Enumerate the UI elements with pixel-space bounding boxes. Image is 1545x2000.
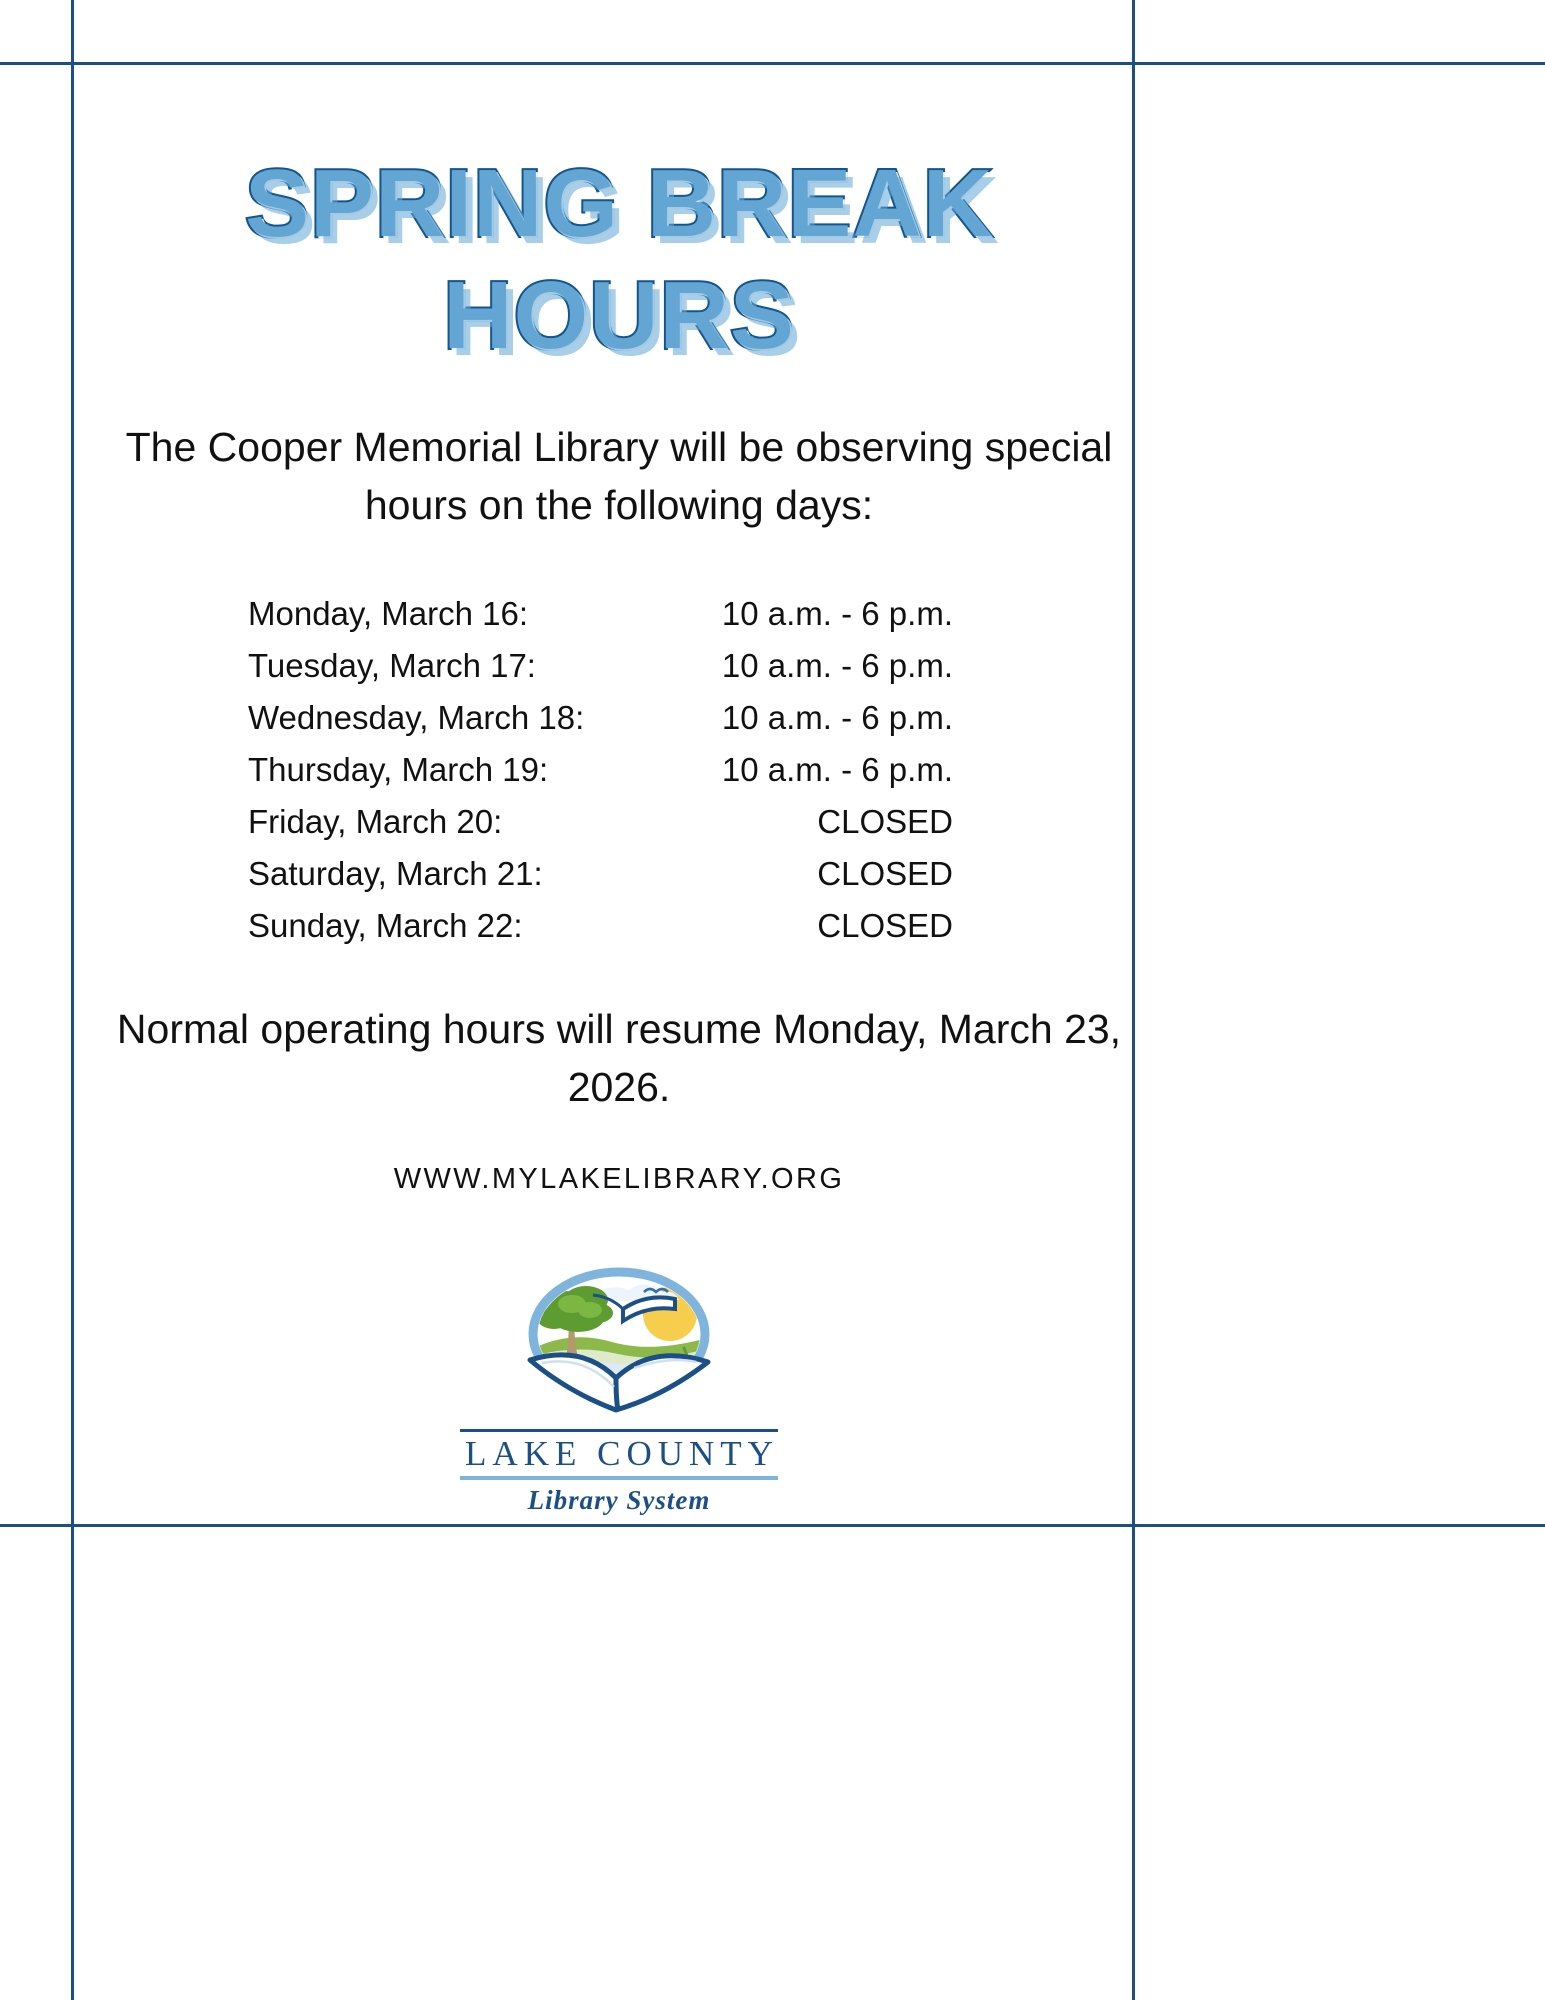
library-logo: LAKE COUNTY Library System [443,1262,795,1517]
resume-note: Normal operating hours will resume Monda… [100,1000,1138,1116]
logo-divider-bottom [460,1476,778,1480]
poster-title: SPRING BREAK HOURS [0,148,1238,372]
schedule-hours-value: 10 a.m. - 6 p.m. [722,640,953,692]
website-url: WWW.MYLAKELIBRARY.ORG [100,1163,1138,1196]
intro-paragraph: The Cooper Memorial Library will be obse… [100,418,1138,534]
schedule-hours-value: 10 a.m. - 6 p.m. [722,588,953,640]
schedule-hours-value: CLOSED [817,848,953,900]
list-item: Wednesday, March 18: 10 a.m. - 6 p.m. [248,692,953,744]
list-item: Saturday, March 21: CLOSED [248,848,953,900]
poster-title-line-1: SPRING BREAK [0,148,1238,260]
hours-schedule-list: Monday, March 16: 10 a.m. - 6 p.m. Tuesd… [248,588,953,952]
list-item: Friday, March 20: CLOSED [248,796,953,848]
schedule-day-label: Tuesday, March 17: [248,640,536,692]
schedule-day-label: Sunday, March 22: [248,900,523,952]
schedule-day-label: Wednesday, March 18: [248,692,584,744]
lake-county-library-system-logo-icon [494,1262,744,1427]
logo-tagline: Library System [443,1483,795,1517]
list-item: Tuesday, March 17: 10 a.m. - 6 p.m. [248,640,953,692]
spring-break-hours-poster: SPRING BREAK HOURS The Cooper Memorial L… [0,0,1545,2000]
list-item: Monday, March 16: 10 a.m. - 6 p.m. [248,588,953,640]
list-item: Thursday, March 19: 10 a.m. - 6 p.m. [248,744,953,796]
schedule-hours-value: CLOSED [817,796,953,848]
logo-wordmark: LAKE COUNTY [443,1432,795,1476]
poster-title-line-2: HOURS [0,260,1238,372]
schedule-day-label: Thursday, March 19: [248,744,548,796]
schedule-hours-value: 10 a.m. - 6 p.m. [722,744,953,796]
list-item: Sunday, March 22: CLOSED [248,900,953,952]
schedule-hours-value: 10 a.m. - 6 p.m. [722,692,953,744]
schedule-day-label: Friday, March 20: [248,796,502,848]
schedule-day-label: Saturday, March 21: [248,848,543,900]
schedule-hours-value: CLOSED [817,900,953,952]
schedule-day-label: Monday, March 16: [248,588,528,640]
